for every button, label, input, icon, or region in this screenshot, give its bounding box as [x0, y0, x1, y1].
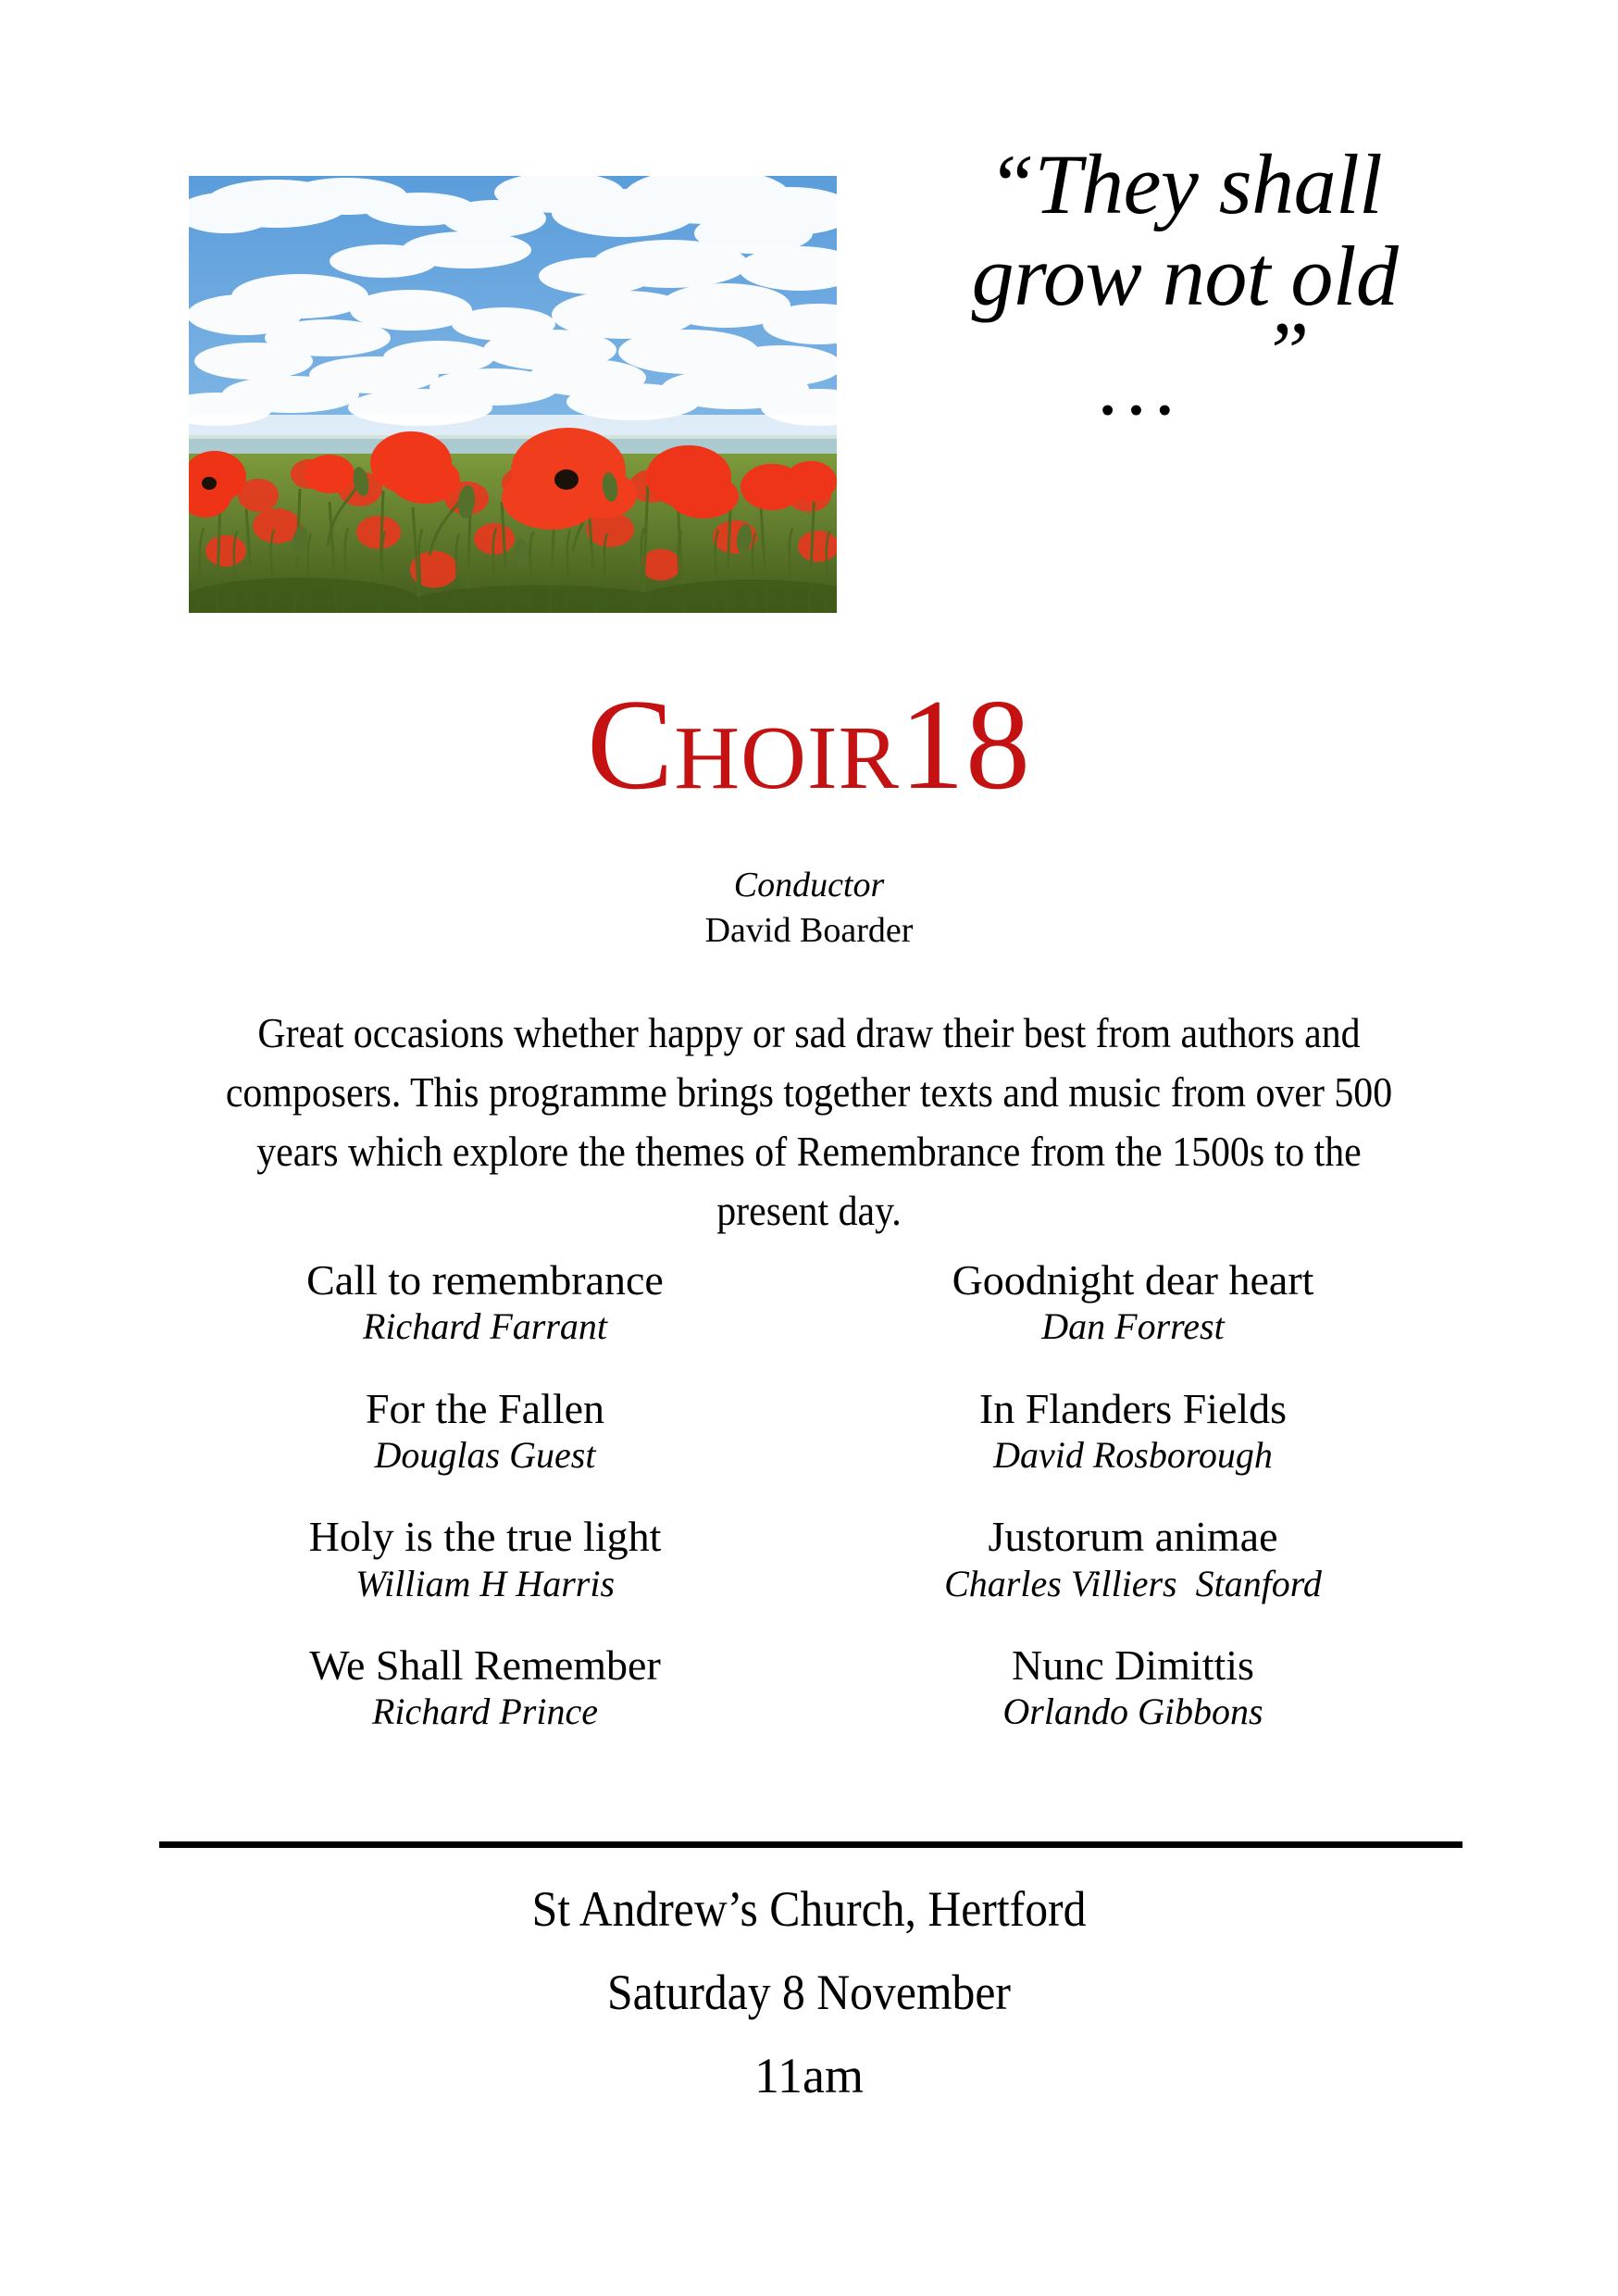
- programme-item-title: Holy is the true light: [161, 1512, 809, 1562]
- programme-item-composer: Orlando Gibbons: [809, 1691, 1457, 1733]
- programme-item: In Flanders Fields David Rosborough: [809, 1384, 1457, 1478]
- poppy-field-photo: [189, 176, 837, 613]
- programme-item: Holy is the true light William H Harris: [161, 1512, 809, 1605]
- conductor-name: David Boarder: [0, 908, 1618, 954]
- page-title: Choir18: [0, 680, 1618, 810]
- poster-page: “They shall grow not old … ” Choir18 Con…: [0, 0, 1618, 2296]
- quote-line-2: grow not old: [889, 231, 1481, 322]
- programme-item: Nunc Dimittis Orlando Gibbons: [809, 1641, 1457, 1734]
- conductor-block: Conductor David Boarder: [0, 863, 1618, 953]
- quote-closing-mark: ”: [1262, 306, 1309, 398]
- programme-item-composer: Richard Farrant: [161, 1305, 809, 1348]
- programme-item-composer: Douglas Guest: [161, 1434, 809, 1477]
- programme-description: Great occasions whether happy or sad dra…: [206, 1004, 1412, 1242]
- programme-item-composer: Charles Villiers Stanford: [809, 1563, 1457, 1605]
- event-details: St Andrew’s Church, Hertford Saturday 8 …: [0, 1884, 1618, 2101]
- conductor-label: Conductor: [0, 863, 1618, 908]
- quote-line-3: … ”: [889, 323, 1481, 423]
- venue-text: St Andrew’s Church, Hertford: [65, 1884, 1553, 1934]
- poppy-field-illustration: [189, 176, 837, 613]
- programme-item-composer: Richard Prince: [161, 1691, 809, 1733]
- programme-item-composer: William H Harris: [161, 1563, 809, 1605]
- memorial-quote: “They shall grow not old … ”: [889, 139, 1481, 423]
- programme-item-title: Nunc Dimittis: [809, 1641, 1457, 1691]
- date-text: Saturday 8 November: [65, 1967, 1553, 2017]
- programme-item-title: In Flanders Fields: [809, 1384, 1457, 1434]
- programme-item-composer: David Rosborough: [809, 1434, 1457, 1477]
- programme-item-title: Call to remembrance: [161, 1255, 809, 1305]
- programme-item: Goodnight dear heart Dan Forrest: [809, 1255, 1457, 1349]
- programme-item-title: We Shall Remember: [161, 1641, 809, 1691]
- time-text: 11am: [0, 2051, 1618, 2101]
- poster-header: “They shall grow not old … ”: [0, 0, 1618, 648]
- programme-item-title: For the Fallen: [161, 1384, 809, 1434]
- programme-item: We Shall Remember Richard Prince: [161, 1641, 809, 1734]
- programme-item-composer: Dan Forrest: [809, 1305, 1457, 1348]
- programme-item: Justorum animae Charles Villiers Stanfor…: [809, 1512, 1457, 1605]
- quote-line-1: “They shall: [889, 139, 1481, 231]
- horizontal-rule: [159, 1841, 1462, 1848]
- programme-item-title: Goodnight dear heart: [809, 1255, 1457, 1305]
- programme-item-title: Justorum animae: [809, 1512, 1457, 1562]
- quote-ellipsis: …: [1100, 340, 1175, 431]
- programme-list: Call to remembrance Richard Farrant Good…: [161, 1255, 1457, 1734]
- programme-item: For the Fallen Douglas Guest: [161, 1384, 809, 1478]
- programme-item: Call to remembrance Richard Farrant: [161, 1255, 809, 1349]
